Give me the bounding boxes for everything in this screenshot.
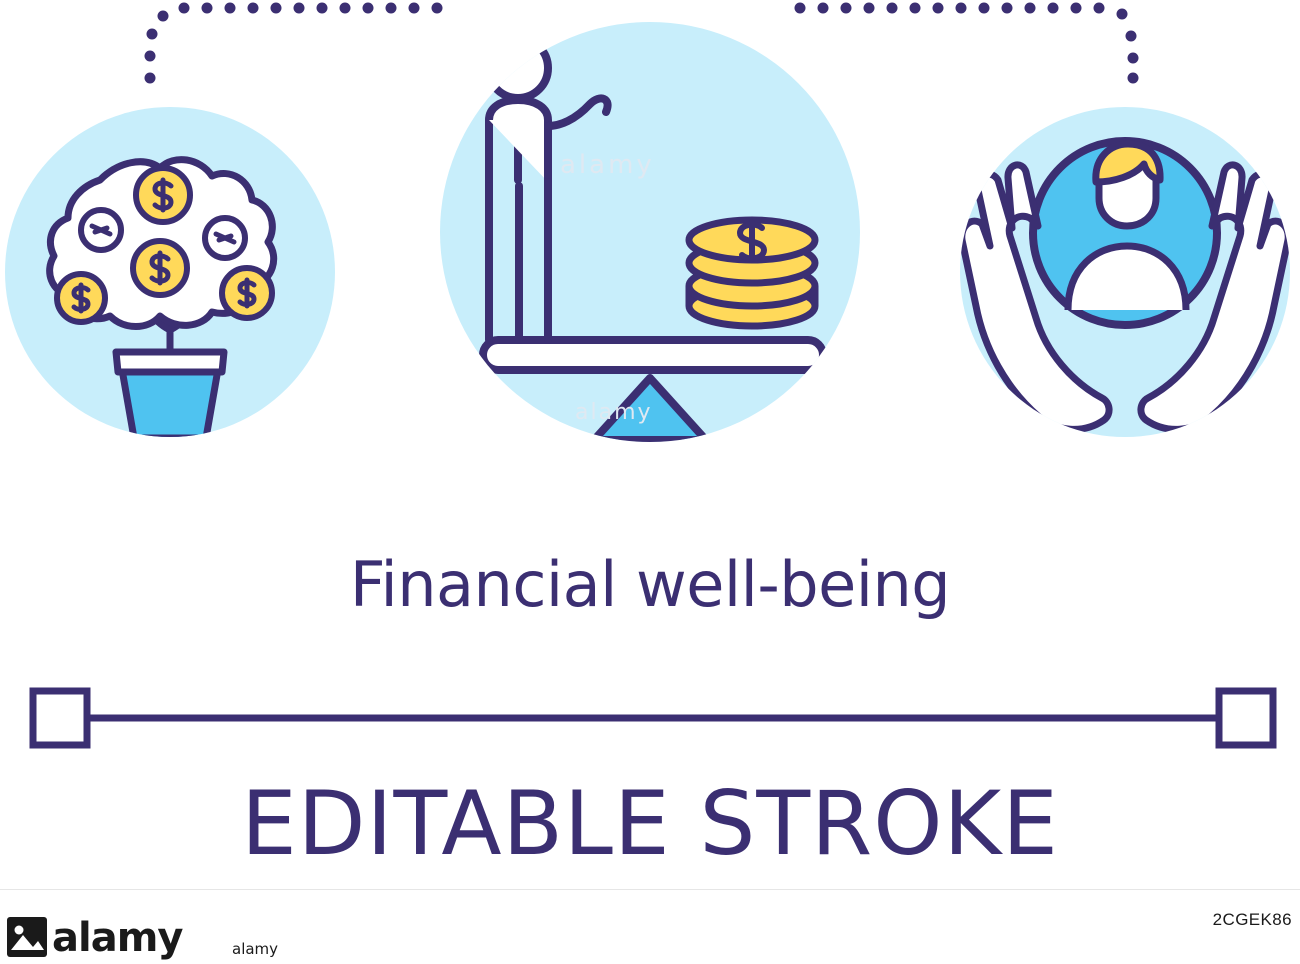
stroke-handle-right: [1219, 691, 1273, 745]
page-title: Financial well-being: [0, 548, 1300, 621]
coin-stack-icon: [689, 220, 815, 326]
alamy-mark-icon: [6, 916, 48, 958]
illustration-canvas: alamy alamy Financial well-being EDITABL…: [0, 0, 1300, 964]
alamy-caption: alamy: [232, 940, 278, 958]
money-tree-icon: [5, 107, 335, 438]
concept-icons-group: [0, 0, 1300, 520]
image-id: 2CGEK86: [1213, 910, 1292, 930]
editable-stroke-label: EDITABLE STROKE: [0, 772, 1300, 875]
stroke-handle-left: [33, 691, 87, 745]
editable-stroke-indicator: [0, 660, 1300, 770]
alamy-logo: alamy: [6, 916, 182, 958]
balance-scale-icon: [440, 22, 860, 442]
watermark-bar: alamy alamy 2CGEK86: [0, 889, 1300, 964]
alamy-wordmark: alamy: [52, 918, 182, 958]
care-hands-icon: [960, 107, 1290, 437]
